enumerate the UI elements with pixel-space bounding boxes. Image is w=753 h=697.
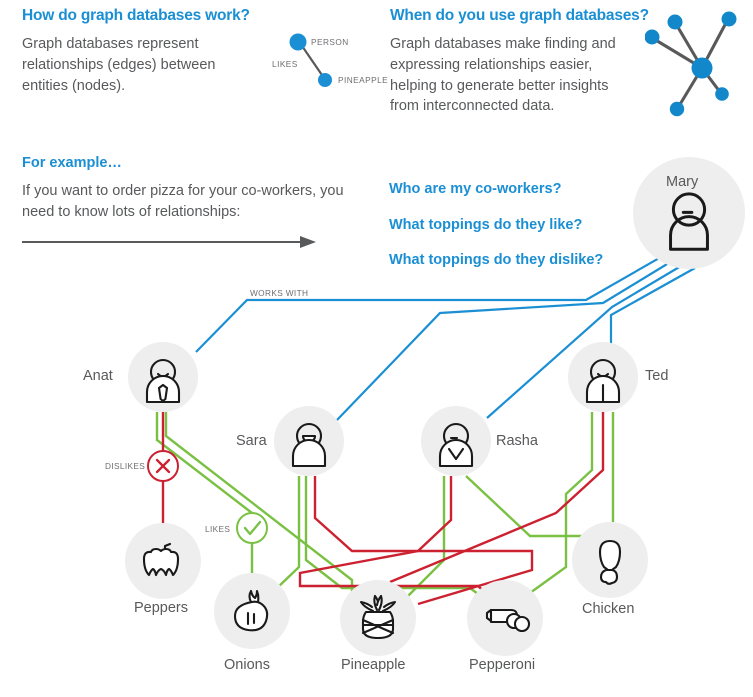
question-dislike: What toppings do they dislike? xyxy=(389,253,639,268)
edge-label-dislikes: DISLIKES xyxy=(105,461,145,471)
node-onions[interactable] xyxy=(214,573,290,649)
node-label-anat: Anat xyxy=(83,368,113,384)
node-mary[interactable] xyxy=(633,157,745,269)
two-node-graph-icon: PERSON PINEAPPLE LIKES xyxy=(267,28,387,103)
node-anat[interactable] xyxy=(128,342,198,412)
node-label-rasha: Rasha xyxy=(496,433,538,449)
dislikes-edges xyxy=(163,412,603,604)
likes-edges xyxy=(157,412,613,600)
infographic-canvas: How do graph databases work? Graph datab… xyxy=(0,0,753,697)
likes-badge xyxy=(237,513,267,543)
question-like: What toppings do they like? xyxy=(389,218,639,233)
panel-how-heading: How do graph databases work? xyxy=(22,6,372,25)
node-label-sara: Sara xyxy=(236,433,267,449)
works-with-edges xyxy=(196,253,695,420)
node-label-ted: Ted xyxy=(645,368,668,384)
node-pepperoni[interactable] xyxy=(467,580,543,656)
example-block: For example… If you want to order pizza … xyxy=(22,155,352,255)
panel-when-body: Graph databases make finding and express… xyxy=(390,34,640,116)
panel-how-graph-databases-work: How do graph databases work? Graph datab… xyxy=(22,6,372,96)
mini-label-person: PERSON xyxy=(311,37,349,47)
node-pineapple[interactable] xyxy=(340,580,416,656)
example-heading: For example… xyxy=(22,155,352,171)
node-label-pineapple: Pineapple xyxy=(341,657,406,673)
question-co-workers: Who are my co-workers? xyxy=(389,182,639,197)
mini-label-likes: LIKES xyxy=(272,59,298,69)
hub-network-icon xyxy=(645,4,753,124)
node-sara[interactable] xyxy=(274,406,344,476)
node-ted[interactable] xyxy=(568,342,638,412)
node-label-pepperoni: Pepperoni xyxy=(469,657,535,673)
node-peppers[interactable] xyxy=(125,523,201,599)
panel-how-body: Graph databases represent relationships … xyxy=(22,34,257,96)
example-body: If you want to order pizza for your co-w… xyxy=(22,181,352,222)
long-right-arrow-icon xyxy=(22,234,352,255)
panel-when-use-graph-databases: When do you use graph databases? Graph d… xyxy=(390,6,750,117)
node-rasha[interactable] xyxy=(421,406,491,476)
node-label-mary: Mary xyxy=(666,174,698,190)
edge-label-likes: LIKES xyxy=(205,524,230,534)
mini-label-pineapple: PINEAPPLE xyxy=(338,75,388,85)
node-label-peppers: Peppers xyxy=(134,600,188,616)
node-chicken[interactable] xyxy=(572,522,648,598)
node-label-chicken: Chicken xyxy=(582,601,634,617)
edge-label-works-with: WORKS WITH xyxy=(250,288,308,298)
node-label-onions: Onions xyxy=(224,657,270,673)
dislikes-badge xyxy=(148,451,178,481)
questions-list: Who are my co-workers? What toppings do … xyxy=(389,182,639,268)
